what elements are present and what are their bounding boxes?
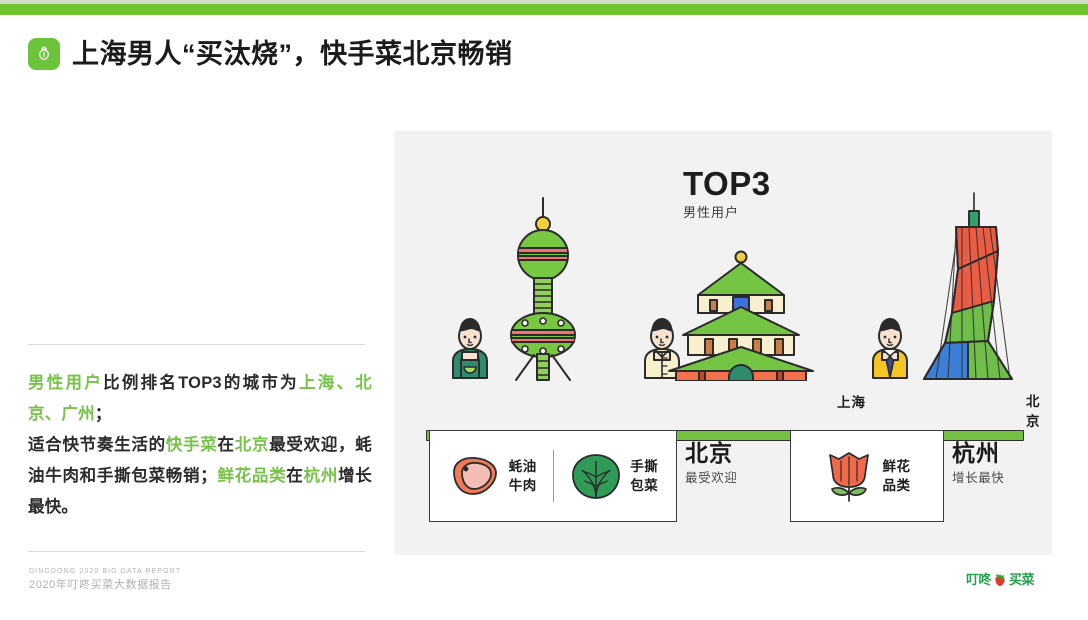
text-run: 在: [218, 436, 235, 454]
highlight-run: 鲜花品类: [217, 467, 286, 485]
vegetable-icon: [29, 39, 59, 69]
guangzhou-person-icon: [862, 312, 918, 380]
city-illustration: [394, 191, 1052, 381]
slide-root: 上海男人“买汰烧”，快手菜北京畅销 男性用户比例排名TOP3的城市为上海、北京、…: [0, 0, 1088, 620]
beef-steak-icon: [446, 454, 500, 498]
highlight-run: 北京: [235, 436, 269, 454]
footer-cn-label: 2020年叮咚买菜大数据报告: [29, 577, 181, 593]
highlight-run: 快手菜: [166, 436, 218, 454]
brand-logo: 叮咚 买菜: [966, 572, 1034, 588]
brand-text-left: 叮咚: [966, 573, 991, 588]
text-run: 在: [286, 467, 303, 485]
temple-of-heaven-icon: [666, 249, 816, 381]
highlight-run: 男性用户: [28, 374, 103, 392]
left-divider-bottom: [28, 551, 365, 552]
oriental-pearl-tower-icon: [494, 196, 592, 381]
product-label-beef: 蚝油 牛肉: [509, 457, 537, 495]
card-city-beijing: 北京: [685, 440, 737, 467]
shanghai-person-icon: [442, 312, 498, 380]
text-run: ；: [95, 405, 112, 423]
footer-en-label: DINGDONG 2020 BIG DATA REPORT: [29, 566, 181, 577]
flower-icon: [824, 449, 874, 503]
beijing-card-caption: 北京 最受欢迎: [685, 440, 737, 488]
city-label-shanghai: 上海: [837, 391, 866, 411]
city-label-beijing: 北京: [1026, 390, 1052, 430]
product-item-beef[interactable]: 蚝油 牛肉: [430, 454, 553, 498]
product-label-flower: 鲜花 品类: [883, 457, 911, 495]
report-footer: DINGDONG 2020 BIG DATA REPORT 2020年叮咚买菜大…: [29, 566, 181, 593]
hangzhou-product-card[interactable]: 鲜花 品类: [790, 430, 944, 522]
product-label-cabbage: 手撕 包菜: [630, 457, 658, 495]
product-item-cabbage[interactable]: 手撕 包菜: [554, 453, 677, 499]
product-item-flower[interactable]: 鲜花 品类: [791, 449, 943, 503]
text-run: 比例排名TOP3的城市为: [103, 374, 299, 392]
brand-text-right: 买菜: [1009, 573, 1034, 588]
card-city-hangzhou: 杭州: [952, 440, 1004, 467]
hangzhou-card-caption: 杭州 增长最快: [952, 440, 1004, 488]
tomato-icon: [992, 572, 1008, 588]
card-note-beijing: 最受欢迎: [685, 469, 737, 488]
top-green-bar: [0, 4, 1088, 15]
slide-title-row: 上海男人“买汰烧”，快手菜北京畅销: [29, 39, 513, 69]
summary-paragraph: 男性用户比例排名TOP3的城市为上海、北京、广州；适合快节奏生活的快手菜在北京最…: [28, 368, 372, 523]
page-title: 上海男人“买汰烧”，快手菜北京畅销: [72, 41, 513, 68]
beijing-product-card[interactable]: 蚝油 牛肉 手撕 包菜: [429, 430, 677, 522]
left-divider-top: [28, 344, 365, 345]
highlight-run: 杭州: [304, 467, 338, 485]
canton-tower-icon: [912, 191, 1022, 381]
card-note-hangzhou: 增长最快: [952, 469, 1004, 488]
text-run: 适合快节奏生活的: [28, 436, 166, 454]
cabbage-icon: [571, 453, 621, 499]
